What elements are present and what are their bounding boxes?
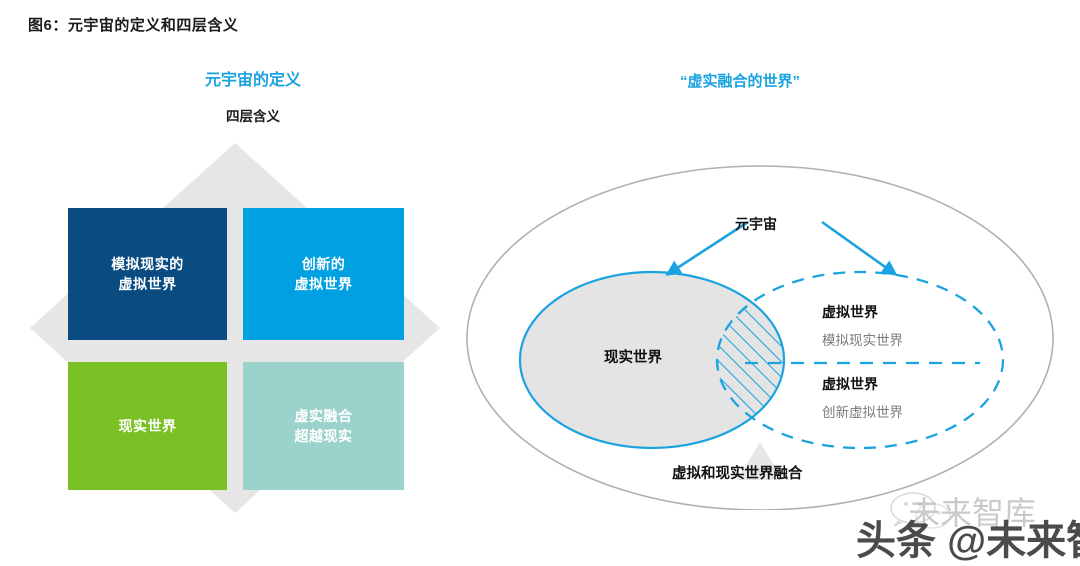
left-panel-header: 元宇宙的定义	[188, 66, 318, 90]
fusion-bottom-label: 虚拟和现实世界融合	[672, 462, 803, 483]
metaverse-callout-label: 元宇宙	[735, 214, 777, 234]
watermark-main: 头条 @未来智库	[856, 508, 1080, 566]
left-panel-subheader: 四层含义	[188, 105, 318, 125]
real-world-label: 现实世界	[604, 346, 662, 367]
right-panel-header: “虚实融合的世界”	[600, 70, 880, 91]
figure-canvas: 图6：元宇宙的定义和四层含义 元宇宙的定义 四层含义 模拟现实的 虚拟世界 创新…	[0, 0, 1080, 566]
venn-diagram	[460, 150, 1060, 510]
callout-arrow-right	[822, 222, 895, 274]
quadrant-label: 虚实融合 超越现实	[295, 406, 353, 447]
quadrant-label: 模拟现实的 虚拟世界	[111, 254, 184, 295]
virtual-world-top-subtitle: 模拟现实世界	[822, 329, 903, 349]
quadrant-innovative-virtual-world[interactable]: 创新的 虚拟世界	[243, 208, 404, 340]
quadrant-label: 现实世界	[119, 416, 177, 436]
quadrant-simulated-virtual-world[interactable]: 模拟现实的 虚拟世界	[68, 208, 227, 340]
quadrant-label: 创新的 虚拟世界	[295, 254, 353, 295]
page-title: 图6：元宇宙的定义和四层含义	[28, 14, 238, 35]
quadrant-virtual-real-fusion[interactable]: 虚实融合 超越现实	[243, 362, 404, 490]
virtual-world-top-title: 虚拟世界	[822, 302, 878, 322]
virtual-world-bottom-subtitle: 创新虚拟世界	[822, 401, 903, 421]
quadrant-real-world[interactable]: 现实世界	[68, 362, 227, 490]
virtual-world-bottom-title: 虚拟世界	[822, 374, 878, 394]
